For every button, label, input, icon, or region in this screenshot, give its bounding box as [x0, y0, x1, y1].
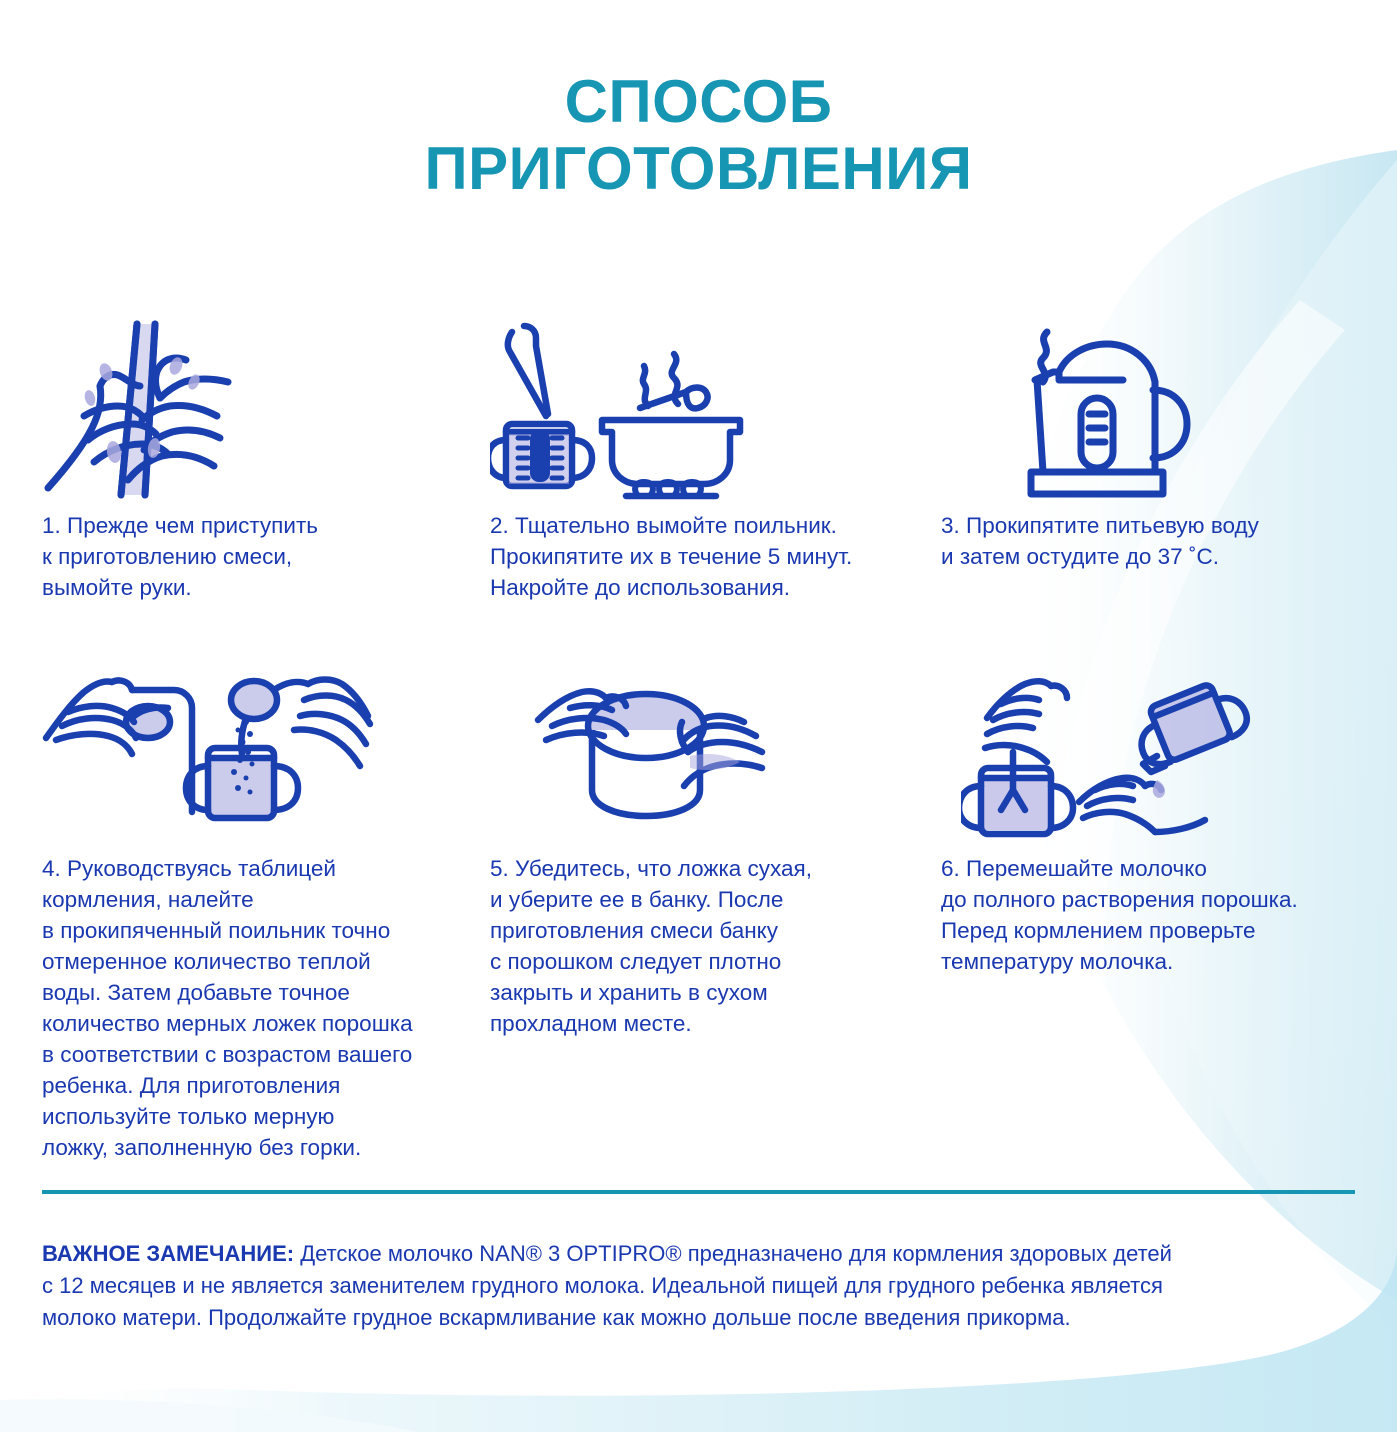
- section-divider: [42, 1190, 1355, 1194]
- step-1-text: 1. Прежде чем приступить к приготовлению…: [42, 510, 472, 603]
- step-6: 6. Перемешайте молочко до полного раство…: [941, 660, 1381, 977]
- step-1: 1. Прежде чем приступить к приготовлению…: [42, 320, 472, 603]
- steps-row-1: 1. Прежде чем приступить к приготовлению…: [0, 320, 1397, 640]
- important-note-label: ВАЖНОЕ ЗАМЕЧАНИЕ:: [42, 1241, 294, 1266]
- step-2-text: 2. Тщательно вымойте поильник. Прокипяти…: [490, 510, 920, 603]
- stirring-cup-and-wrist-temperature-test-icon: [961, 660, 1381, 845]
- infographic-page: СПОСОБ ПРИГОТОВЛЕНИЯ: [0, 0, 1397, 1432]
- step-3-text: 3. Прокипятите питьевую воду и затем ост…: [941, 510, 1371, 572]
- important-note: ВАЖНОЕ ЗАМЕЧАНИЕ: Детское молочко NAN® 3…: [42, 1238, 1362, 1334]
- step-5: 5. Убедитесь, что ложка сухая, и уберите…: [490, 660, 920, 1039]
- leveling-scoop-and-pouring-powder-icon: [42, 660, 472, 845]
- step-3: 3. Прокипятите питьевую воду и затем ост…: [941, 320, 1371, 572]
- page-title: СПОСОБ ПРИГОТОВЛЕНИЯ: [0, 68, 1397, 202]
- step-4-text: 4. Руководствуясь таблицей кормления, на…: [42, 853, 472, 1163]
- closing-can-lid-icon: [530, 660, 920, 845]
- steps-grid: 1. Прежде чем приступить к приготовлению…: [0, 320, 1397, 660]
- washing-hands-icon: [42, 320, 472, 500]
- electric-kettle-icon: [1003, 320, 1371, 500]
- step-2: 2. Тщательно вымойте поильник. Прокипяти…: [490, 320, 920, 603]
- sippy-cup-brush-and-boiling-pot-icon: [490, 320, 920, 500]
- step-4: 4. Руководствуясь таблицей кормления, на…: [42, 660, 472, 1163]
- step-5-text: 5. Убедитесь, что ложка сухая, и уберите…: [490, 853, 920, 1039]
- step-6-text: 6. Перемешайте молочко до полного раство…: [941, 853, 1381, 977]
